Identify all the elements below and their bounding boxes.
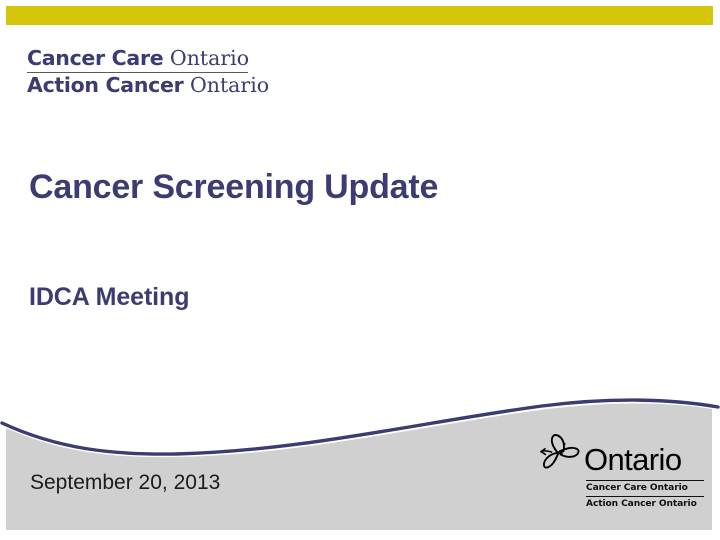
slide-subtitle: IDCA Meeting xyxy=(29,283,189,312)
ontario-sub-line-1: Cancer Care Ontario xyxy=(586,481,704,495)
cco-logo-line2-bold: Action Cancer xyxy=(27,73,183,97)
cancer-care-ontario-logo: Cancer Care Ontario Action Cancer Ontari… xyxy=(27,48,257,97)
cco-logo-line-1: Cancer Care Ontario xyxy=(27,48,257,70)
ontario-sub-line-2: Action Cancer Ontario xyxy=(586,497,704,511)
ontario-logo-subtext: Cancer Care Ontario Action Cancer Ontari… xyxy=(586,480,704,511)
cco-logo-line1-ontario: Ontario xyxy=(170,46,249,70)
slide-date: September 20, 2013 xyxy=(30,471,220,495)
slide-title: Cancer Screening Update xyxy=(29,168,649,207)
cco-logo-line-2: Action Cancer Ontario xyxy=(27,75,257,97)
trillium-dot-2 xyxy=(555,457,557,459)
cco-logo-line2-ontario: Ontario xyxy=(190,73,269,97)
trillium-center-dot xyxy=(560,452,563,455)
trillium-icon xyxy=(537,432,585,476)
ontario-government-logo: Ontario Cancer Care Ontario Action Cance… xyxy=(537,430,707,510)
ontario-wordmark: Ontario xyxy=(584,444,681,475)
top-accent-bar xyxy=(6,6,713,25)
presentation-title-slide: Cancer Care Ontario Action Cancer Ontari… xyxy=(0,0,720,540)
cco-logo-line1-bold: Cancer Care xyxy=(27,46,163,70)
trillium-dot-3 xyxy=(564,443,566,445)
title-block: Cancer Screening Update xyxy=(29,168,649,207)
